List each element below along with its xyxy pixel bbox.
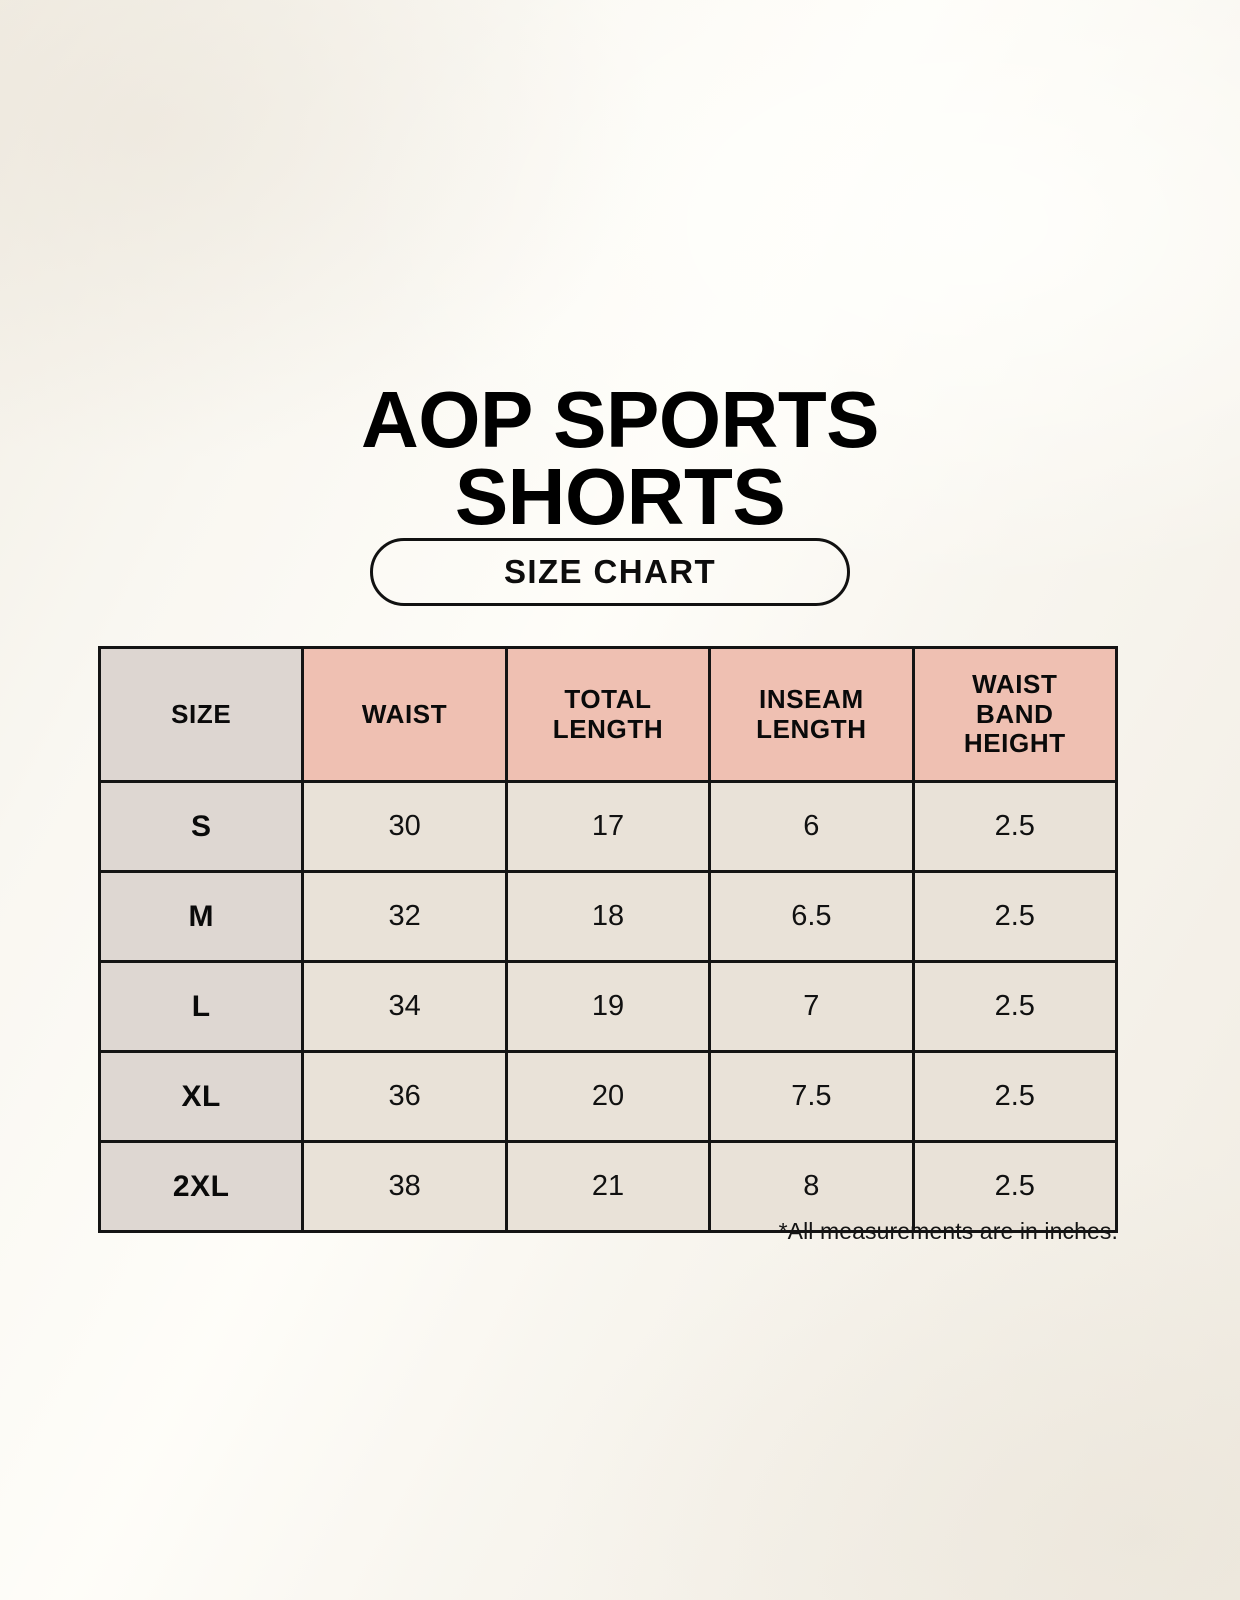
size-chart-table: SIZE WAIST TOTAL LENGTH INSEAM LENGTH — [98, 646, 1118, 1233]
cell-size: XL — [100, 1052, 303, 1142]
cell-size: S — [100, 782, 303, 872]
cell-waist-band-height: 2.5 — [913, 872, 1116, 962]
cell-inseam-length: 6 — [710, 782, 913, 872]
cell-waist: 34 — [303, 962, 506, 1052]
column-header-waist: WAIST — [303, 648, 506, 782]
column-header-waist-band-height-line-2: BAND — [976, 699, 1054, 729]
cell-waist-band-height: 2.5 — [913, 1052, 1116, 1142]
page-title: AOP SPORTS SHORTS — [0, 381, 1240, 536]
size-chart-page: AOP SPORTS SHORTS SIZE CHART SIZE WAIST — [0, 0, 1240, 1600]
column-header-waist-line-1: WAIST — [362, 699, 447, 729]
column-header-waist-band-height-line-3: HEIGHT — [964, 728, 1066, 758]
measurement-units-note: *All measurements are in inches. — [98, 1218, 1118, 1245]
table-body: S 30 17 6 2.5 M 32 18 6.5 2.5 L — [100, 782, 1117, 1232]
column-header-total-length: TOTAL LENGTH — [506, 648, 709, 782]
column-header-inseam-length: INSEAM LENGTH — [710, 648, 913, 782]
cell-waist: 32 — [303, 872, 506, 962]
cell-waist-band-height: 2.5 — [913, 962, 1116, 1052]
column-header-total-length-line-1: TOTAL — [564, 684, 651, 714]
column-header-size: SIZE — [100, 648, 303, 782]
page-title-line-2: SHORTS — [0, 458, 1240, 536]
column-header-waist-band-height: WAIST BAND HEIGHT — [913, 648, 1116, 782]
cell-waist-band-height: 2.5 — [913, 782, 1116, 872]
cell-size: L — [100, 962, 303, 1052]
column-header-inseam-length-line-1: INSEAM — [759, 684, 864, 714]
column-header-inseam-length-line-2: LENGTH — [756, 714, 866, 744]
column-header-total-length-line-2: LENGTH — [553, 714, 663, 744]
column-header-waist-band-height-line-1: WAIST — [972, 669, 1057, 699]
table-row: M 32 18 6.5 2.5 — [100, 872, 1117, 962]
cell-waist: 30 — [303, 782, 506, 872]
cell-total-length: 18 — [506, 872, 709, 962]
cell-total-length: 17 — [506, 782, 709, 872]
column-header-size-line-1: SIZE — [171, 699, 231, 729]
table-row: L 34 19 7 2.5 — [100, 962, 1117, 1052]
cell-inseam-length: 7 — [710, 962, 913, 1052]
cell-waist: 36 — [303, 1052, 506, 1142]
size-chart-badge: SIZE CHART — [370, 538, 850, 606]
cell-total-length: 20 — [506, 1052, 709, 1142]
table-header-row: SIZE WAIST TOTAL LENGTH INSEAM LENGTH — [100, 648, 1117, 782]
cell-size: M — [100, 872, 303, 962]
size-chart-table-container: SIZE WAIST TOTAL LENGTH INSEAM LENGTH — [98, 646, 1118, 1233]
page-title-line-1: AOP SPORTS — [0, 381, 1240, 459]
cell-inseam-length: 6.5 — [710, 872, 913, 962]
table-row: XL 36 20 7.5 2.5 — [100, 1052, 1117, 1142]
size-chart-badge-label: SIZE CHART — [504, 553, 716, 591]
cell-total-length: 19 — [506, 962, 709, 1052]
cell-inseam-length: 7.5 — [710, 1052, 913, 1142]
table-row: S 30 17 6 2.5 — [100, 782, 1117, 872]
table-head: SIZE WAIST TOTAL LENGTH INSEAM LENGTH — [100, 648, 1117, 782]
